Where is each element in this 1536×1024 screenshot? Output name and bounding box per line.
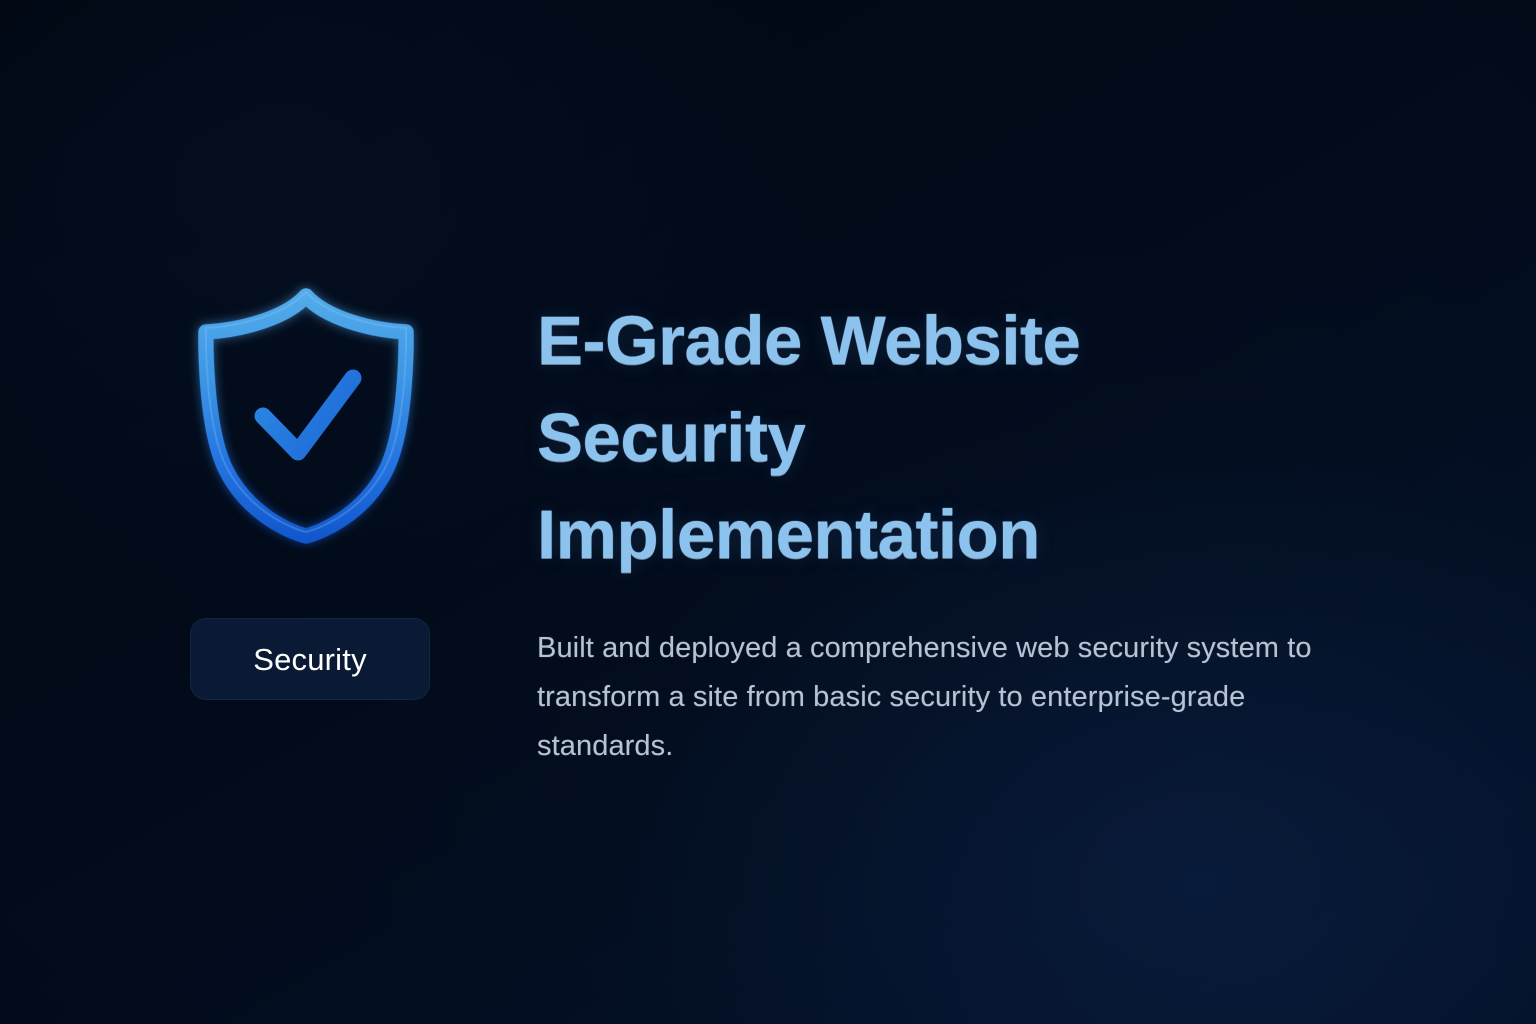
hero-section: Security E-Grade Website Security Implem… bbox=[0, 0, 1536, 1024]
page-title: E-Grade Website Security Implementation bbox=[537, 292, 1297, 583]
status-badge[interactable]: Security bbox=[190, 618, 430, 700]
hero-left-column: Security bbox=[190, 286, 490, 542]
hero-right-column: E-Grade Website Security Implementation … bbox=[537, 292, 1397, 583]
hero-content: Security E-Grade Website Security Implem… bbox=[0, 0, 1536, 1024]
shield-check-icon bbox=[190, 286, 422, 542]
page-description: Built and deployed a comprehensive web s… bbox=[537, 624, 1357, 771]
status-badge-label: Security bbox=[253, 644, 367, 675]
